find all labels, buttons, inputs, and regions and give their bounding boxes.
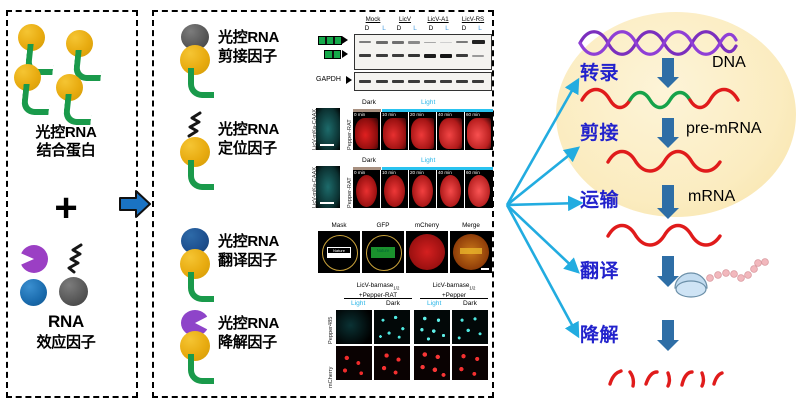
gel-cond-l: L [409,25,421,32]
group-left-line1: LicV-barnase [357,282,394,289]
reference-cell-image [316,166,340,208]
degradation-image-red [336,346,372,380]
isoform-exon-included-icon [318,36,342,45]
patterning-image-mcherry [406,231,448,273]
zigzag-motif-icon [60,243,86,275]
licv-mka-caax-timelapse-2: LicV-mKa-CAAX Pepper-RAT Dark Light 0 mi… [306,158,494,210]
species-label-mrna: mRNA [688,188,735,206]
nascent-peptide-icon [706,258,772,292]
gel-group-label-licv-rs: LicV-RS [457,16,489,23]
factor-label-degradation-line2: 降解因子 [218,334,277,351]
patterning-column-label-merge: Merge [450,222,492,229]
group-left-sub: 1/2 [393,285,399,290]
degradation-image-cyan [336,310,372,344]
timepoint-label: 60 min [466,112,480,117]
factor-molecule-splicing [178,24,212,98]
factor-molecule-translation [178,228,212,302]
rbp-molecule [56,74,98,122]
patterning-image-gfp: Nature [362,231,404,273]
degradation-image-red [452,346,488,380]
timelapse-frame: 0 min [353,112,380,150]
mrna-wave-icon [606,224,726,246]
barnase-degradation-panel: LicV-barnase1/2 +Pepper-RAT LicV-barnase… [306,282,494,394]
effector-group [18,243,118,307]
rbp-tail-icon [22,84,50,115]
condition-label-light: Light [351,300,365,307]
degradation-image-cyan [452,310,488,344]
timelapse-frame: 60 min [465,170,493,208]
rbp-molecule [66,30,108,78]
species-label-pre-mrna: pre-mRNA [686,120,762,138]
timepoint-label: 0 min [354,170,365,175]
plus-operator: + [0,188,132,228]
rbp-label-line1: 光控RNA [0,124,132,141]
timelapse-frame: 60 min [465,112,493,150]
factor-molecule-degradation [178,310,212,384]
rbp-tail-icon [188,160,214,190]
light-condition-label: Light [421,157,435,164]
timelapse-frame: 20 min [409,170,436,208]
isoform-arrow-icon [342,50,348,58]
timelapse-frame: 40 min [437,112,464,150]
light-condition-label: Light [421,99,435,106]
timepoint-label: 20 min [410,112,424,117]
factor-label-degradation-line1: 光控RNA [218,315,279,332]
timelapse-frame: 20 min [409,112,436,150]
photo-patterning-panel: Mask GFP mCherry Merge Nature Nature [318,222,494,274]
degradation-image-cyan [414,310,450,344]
factor-molecule-localization [178,116,212,190]
patterning-image-merge [450,231,492,273]
gapdh-arrow-icon [346,76,352,84]
timepoint-label: 0 min [354,112,365,117]
factor-label-translation-line1: 光控RNA [218,233,279,250]
gel-gapdh-label: GAPDH [316,76,341,83]
effector-label-line1: RNA [0,313,132,330]
patterning-image-mask: Nature [318,231,360,273]
gel-cond-d: D [361,25,373,32]
rt-pcr-gel: Mock LicV LicV-A1 LicV-RS D L D L D L D … [316,14,492,94]
rna-fragments-icon [606,368,726,392]
rbp-tail-icon [188,272,214,302]
cyan-fan-arrows-icon [495,60,605,360]
gray-domain-icon [59,277,88,306]
pattern-text: Nature [328,248,350,253]
condition-label-dark: Dark [386,300,400,307]
gel-image-main [354,34,492,70]
gel-cond-d: D [393,25,405,32]
splicing-arrow-icon [657,118,679,148]
licv-mka-caax-timelapse: LicV-mKa-CAAX Pepper-RAT Dark Light 0 mi… [306,100,494,152]
gel-cond-l: L [474,25,486,32]
factor-label-splicing-line1: 光控RNA [218,29,279,46]
rbp-tail-icon [188,354,214,384]
effector-label-line2: 效应因子 [0,334,132,351]
rbp-label-line2: 结合蛋白 [0,142,132,159]
gel-cond-l: L [378,25,390,32]
gel-group-label-mock: Mock [360,16,386,23]
factor-label-localization-line1: 光控RNA [218,121,279,138]
dark-condition-label: Dark [362,99,376,106]
timepoint-label: 10 min [382,112,396,117]
factor-label-translation-line2: 翻译因子 [218,252,277,269]
blue-domain-icon [20,279,47,306]
degradation-image-red [374,346,410,380]
gel-cond-d: D [458,25,470,32]
mrna-wave-icon [606,150,726,172]
group-right-line1: LicV-barnase [433,282,470,289]
isoform-exon-skipped-icon [324,50,341,59]
patterning-column-label-mask: Mask [318,222,360,229]
transcription-arrow-icon [657,58,679,88]
rbp-molecule-group [14,22,132,122]
rbp-tail-icon [188,68,214,98]
timepoint-label: 60 min [466,170,480,175]
pattern-text: Nature [372,248,394,253]
timepoint-label: 20 min [410,170,424,175]
gel-cond-d: D [425,25,437,32]
patterning-column-label-gfp: GFP [362,222,404,229]
reference-cell-image [316,108,340,150]
degradation-arrow-icon [657,320,679,352]
factor-label-splicing-line2: 剪接因子 [218,48,277,65]
degradation-image-cyan [374,310,410,344]
degradation-image-red [414,346,450,380]
nuclease-pacman-icon [20,245,48,273]
gel-group-label-licv-a1: LicV-A1 [422,16,454,23]
isoform-arrow-icon [342,36,348,44]
rbp-molecule [14,64,56,112]
gel-image-gapdh [354,72,492,91]
dark-condition-label: Dark [362,157,376,164]
condition-label-light: Light [427,300,441,307]
factor-label-localization-line2: 定位因子 [218,140,277,157]
timepoint-label: 10 min [382,170,396,175]
timepoint-label: 40 min [438,112,452,117]
gel-cond-l: L [441,25,453,32]
timepoint-label: 40 min [438,170,452,175]
species-label-dna: DNA [712,54,746,72]
timelapse-frame: 10 min [381,112,408,150]
group-right-sub: 1/2 [469,285,475,290]
timelapse-frame: 40 min [437,170,464,208]
gel-group-label-licv: LicV [392,16,418,23]
condition-label-dark: Dark [463,300,477,307]
blue-right-arrow-icon [118,188,152,220]
timelapse-frame: 0 min [353,170,380,208]
timelapse-frame: 10 min [381,170,408,208]
degradation-row-label-mcherry: mCherry [328,367,334,388]
degradation-row-label-pepper: Pepper485 [328,317,334,344]
transport-arrow-icon [657,185,679,221]
rbp-tail-icon [64,94,92,125]
patterning-column-label-mcherry: mCherry [406,222,448,229]
